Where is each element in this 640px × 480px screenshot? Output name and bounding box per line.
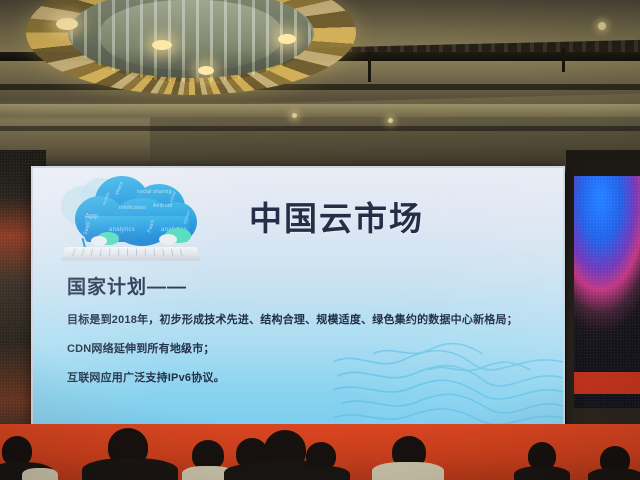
ceiling-light bbox=[598, 22, 606, 30]
cloud-white-accent bbox=[91, 236, 107, 246]
ceiling-light bbox=[292, 113, 297, 118]
slide-body-line: 互联网应用广泛支持IPv6协议。 bbox=[67, 372, 537, 385]
cloud-white-accent bbox=[159, 234, 177, 245]
audience-shoulders bbox=[296, 466, 350, 480]
slide-body-line: 目标是到2018年，初步形成技术先进、结构合理、规模适度、绿色集约的数据中心新格… bbox=[67, 314, 537, 327]
slide-subtitle: 国家计划—— bbox=[67, 272, 187, 299]
audience-shirt bbox=[22, 468, 58, 480]
audience-shirt bbox=[372, 462, 444, 480]
slide-body-line: CDN网络延伸到所有地级市； bbox=[67, 343, 537, 356]
audience-shoulders bbox=[82, 458, 178, 480]
cloud-computing-illustration: App share social sharing notification An… bbox=[61, 176, 201, 268]
keyboard-base-icon bbox=[60, 247, 201, 260]
audience-shoulders bbox=[514, 466, 570, 480]
ceiling-dropper bbox=[368, 52, 371, 82]
chandelier-lamp bbox=[278, 34, 296, 44]
led-screen-right-band bbox=[574, 372, 640, 394]
chandelier bbox=[26, 0, 356, 110]
chandelier-lamp bbox=[198, 66, 214, 75]
photo-scene: App share social sharing notification An… bbox=[0, 0, 640, 480]
chandelier-lamp bbox=[56, 18, 78, 30]
ceiling bbox=[0, 0, 640, 172]
chandelier-lamp bbox=[152, 40, 172, 50]
slide-body: 目标是到2018年，初步形成技术先进、结构合理、规模适度、绿色集约的数据中心新格… bbox=[67, 314, 537, 401]
presentation-slide: App share social sharing notification An… bbox=[33, 168, 563, 426]
audience-shoulders bbox=[588, 468, 640, 480]
ceiling-light bbox=[388, 118, 393, 123]
ceiling-beam bbox=[0, 126, 640, 131]
ceiling-dropper bbox=[562, 48, 565, 72]
slide-title: 中国云市场 bbox=[249, 192, 424, 240]
